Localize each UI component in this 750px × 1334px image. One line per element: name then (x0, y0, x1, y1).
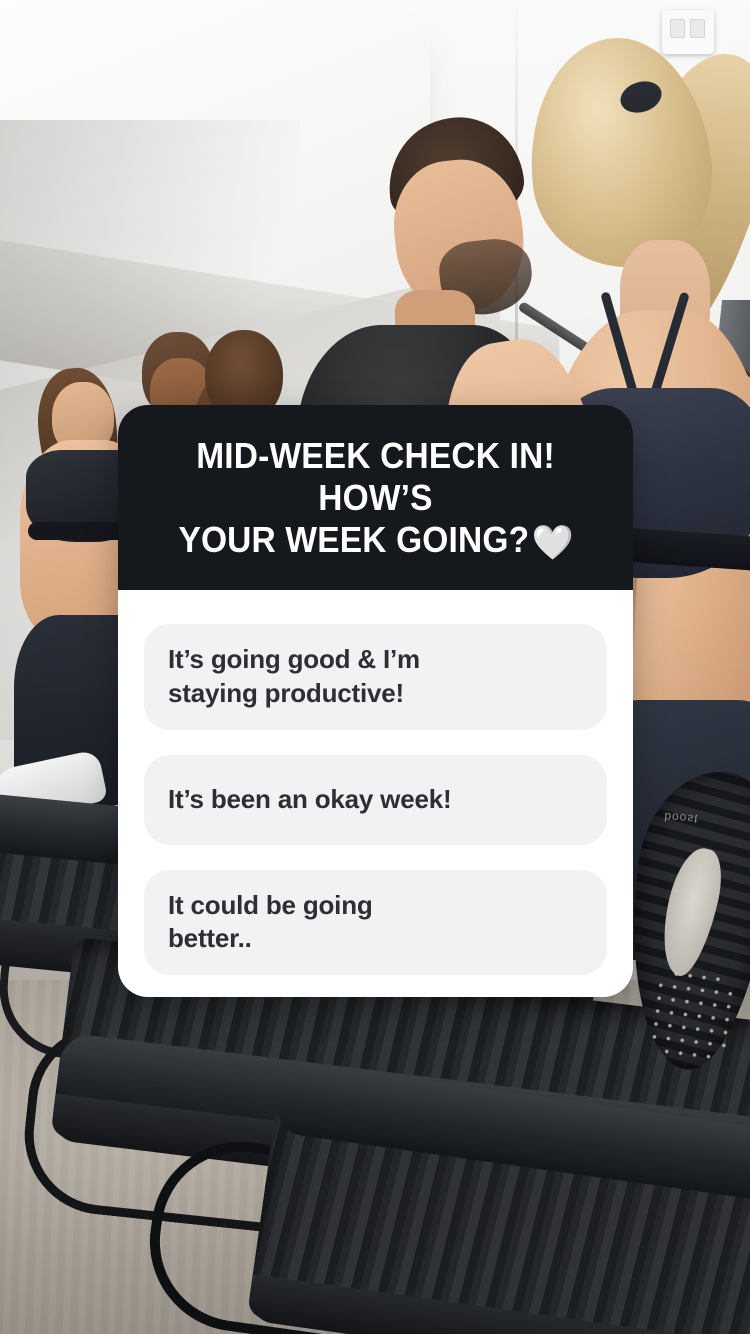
story-screen: ASSAULT ASSAULT FITNESS boost (0, 0, 750, 1334)
poll-option-2[interactable]: It’s been an okay week! (144, 755, 607, 845)
poll-question-text: MID-WEEK CHECK IN! HOW’S YOUR WEEK GOING… (178, 435, 554, 560)
sneaker-boost-label: boost (664, 810, 699, 826)
poll-sticker[interactable]: MID-WEEK CHECK IN! HOW’S YOUR WEEK GOING… (118, 405, 633, 997)
poll-option-label: It could be going better.. (168, 889, 373, 957)
poll-option-label: It’s going good & I’m staying productive… (168, 643, 420, 711)
poll-option-label: It’s been an okay week! (168, 783, 451, 817)
poll-options-list: It’s going good & I’m staying productive… (118, 590, 633, 997)
poll-question: MID-WEEK CHECK IN! HOW’S YOUR WEEK GOING… (164, 435, 587, 564)
poll-option-1[interactable]: It’s going good & I’m staying productive… (144, 624, 607, 730)
white-heart-icon: 🤍 (532, 524, 574, 564)
treadmill-front (247, 1088, 750, 1334)
poll-option-3[interactable]: It could be going better.. (144, 870, 607, 976)
poll-header: MID-WEEK CHECK IN! HOW’S YOUR WEEK GOING… (118, 405, 633, 590)
